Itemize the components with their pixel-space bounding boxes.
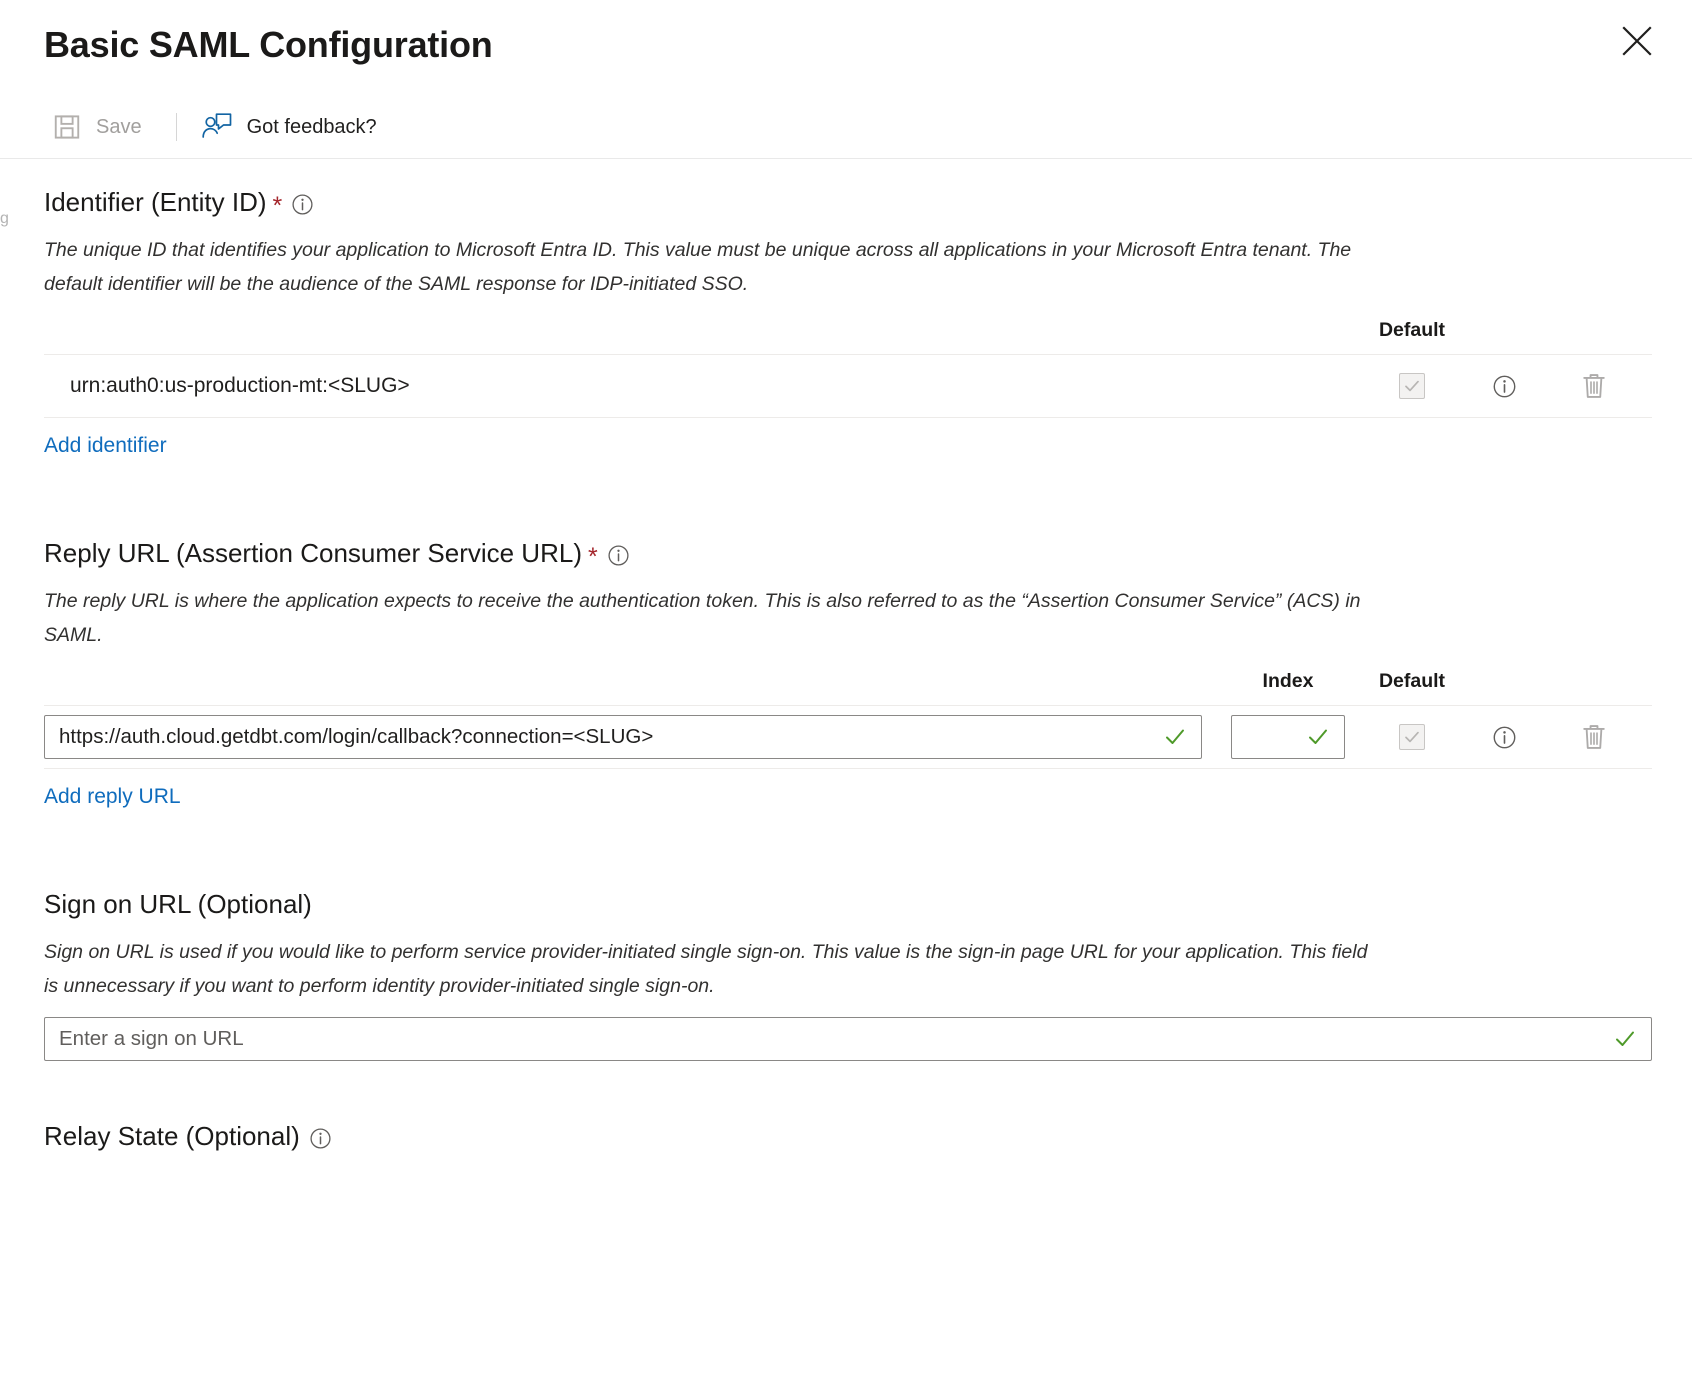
reply-url-label: Reply URL (Assertion Consumer Service UR… (44, 536, 582, 570)
save-disk-icon (52, 112, 82, 142)
feedback-person-icon (201, 112, 233, 142)
section-spacer (44, 809, 1652, 861)
got-feedback-button[interactable]: Got feedback? (195, 105, 389, 149)
sign-on-url-label: Sign on URL (Optional) (44, 887, 312, 921)
add-reply-url-link[interactable]: Add reply URL (44, 785, 181, 809)
close-button[interactable] (1612, 16, 1662, 66)
identifier-default-checkbox (1399, 373, 1425, 399)
sign-on-url-description: Sign on URL is used if you would like to… (44, 935, 1374, 1003)
relay-state-label-row: Relay State (Optional) (44, 1119, 1652, 1153)
close-icon (1620, 24, 1654, 58)
identifier-value[interactable]: urn:auth0:us-production-mt:<SLUG> (44, 374, 1352, 398)
reply-url-input[interactable] (45, 716, 1163, 758)
add-identifier-link[interactable]: Add identifier (44, 434, 167, 458)
trash-icon[interactable] (1580, 722, 1608, 752)
relay-state-label: Relay State (Optional) (44, 1119, 300, 1153)
save-button[interactable]: Save (46, 105, 154, 149)
info-icon[interactable] (607, 544, 630, 567)
reply-url-row-info-icon[interactable] (1492, 725, 1517, 750)
identifier-label: Identifier (Entity ID) (44, 185, 267, 219)
info-icon[interactable] (309, 1127, 332, 1150)
command-bar-divider (176, 113, 177, 141)
command-bar: Save Got feedback? (0, 96, 1692, 159)
section-spacer (44, 458, 1652, 510)
section-relay-state: Relay State (Optional) (44, 1093, 1652, 1153)
section-reply-url: Reply URL (Assertion Consumer Service UR… (44, 510, 1652, 809)
table-row (44, 706, 1652, 769)
reply-url-grid: Index Default (44, 670, 1652, 769)
save-button-label: Save (96, 116, 142, 139)
panel-content: Identifier (Entity ID) * The unique ID t… (0, 159, 1692, 1153)
reply-url-required-marker: * (588, 547, 598, 567)
got-feedback-label: Got feedback? (247, 116, 377, 139)
reply-url-col-index-header: Index (1224, 670, 1352, 693)
info-icon[interactable] (291, 193, 314, 216)
reply-url-index-input-wrapper (1231, 715, 1345, 759)
reply-url-input-wrapper (44, 715, 1202, 759)
reply-url-valid-check-icon (1163, 725, 1201, 749)
identifier-description: The unique ID that identifies your appli… (44, 233, 1374, 301)
reply-url-default-checkbox (1399, 724, 1425, 750)
reply-url-description: The reply URL is where the application e… (44, 584, 1374, 652)
reply-url-index-input[interactable] (1232, 716, 1306, 758)
section-spacer (44, 1061, 1652, 1093)
identifier-label-row: Identifier (Entity ID) * (44, 185, 1652, 219)
reply-url-col-default-header: Default (1352, 670, 1472, 693)
table-row: urn:auth0:us-production-mt:<SLUG> (44, 355, 1652, 418)
sign-on-url-input-wrapper (44, 1017, 1652, 1061)
page-title: Basic SAML Configuration (44, 22, 1652, 68)
identifier-col-default-header: Default (1352, 319, 1472, 342)
section-identifier: Identifier (Entity ID) * The unique ID t… (44, 159, 1652, 458)
sign-on-url-valid-check-icon (1613, 1027, 1651, 1051)
trash-icon[interactable] (1580, 371, 1608, 401)
index-valid-check-icon (1306, 725, 1344, 749)
identifier-required-marker: * (273, 196, 283, 216)
identifier-grid: Default urn:auth0:us-production-mt:<SLUG… (44, 319, 1652, 418)
section-sign-on-url: Sign on URL (Optional) Sign on URL is us… (44, 861, 1652, 1061)
identifier-grid-header: Default (44, 319, 1652, 355)
panel-header: Basic SAML Configuration (0, 0, 1692, 86)
sign-on-url-input[interactable] (45, 1018, 1613, 1060)
sign-on-url-label-row: Sign on URL (Optional) (44, 887, 1652, 921)
reply-url-label-row: Reply URL (Assertion Consumer Service UR… (44, 536, 1652, 570)
identifier-row-info-icon[interactable] (1492, 374, 1517, 399)
reply-url-grid-header: Index Default (44, 670, 1652, 706)
